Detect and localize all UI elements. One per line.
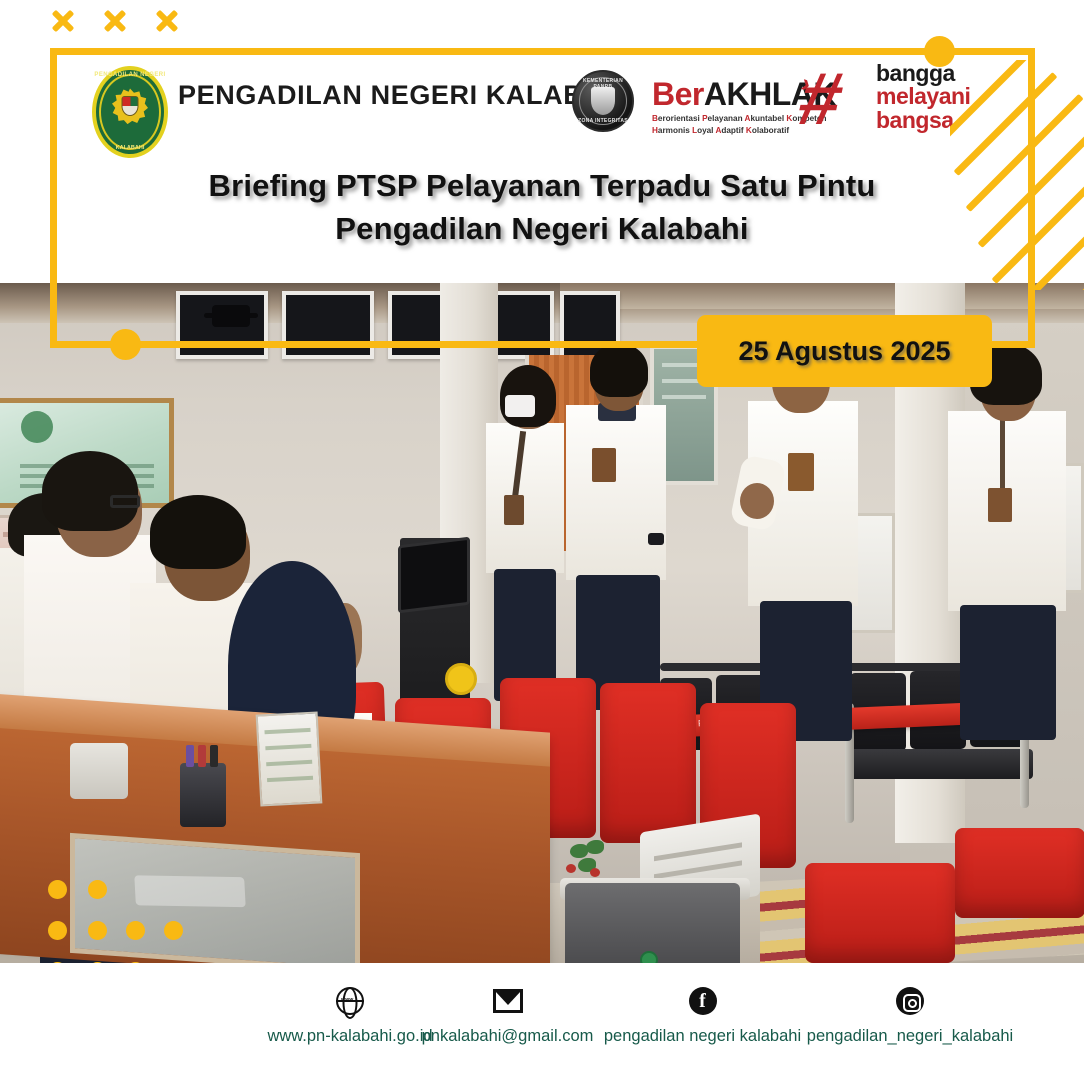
kemenpan-seal-logo: KEMENTERIAN PANRB ZONA INTEGRITAS xyxy=(572,70,634,132)
person-hand xyxy=(740,483,774,519)
red-chair xyxy=(805,863,955,963)
contact-instagram[interactable]: pengadilan_negeri_kalabahi xyxy=(810,985,1010,1046)
gmail-icon xyxy=(492,985,524,1017)
leaflet-stand xyxy=(256,711,323,806)
facebook-label: pengadilan negeri kalabahi xyxy=(604,1027,801,1046)
court-seal-logo: PENGADILAN NEGERI KALABAHI xyxy=(92,66,168,158)
person-standing xyxy=(566,405,666,580)
person-hair xyxy=(150,495,246,569)
desk-box xyxy=(70,743,128,799)
diagonal-stripes-decoration xyxy=(950,60,1084,290)
berakhlak-prefix: Ber xyxy=(652,76,704,112)
red-chair xyxy=(955,828,1084,918)
instagram-icon xyxy=(894,985,926,1017)
contact-facebook[interactable]: f pengadilan negeri kalabahi xyxy=(605,985,800,1046)
ceiling-fan xyxy=(212,305,250,327)
seal-ring-bottom-text: KALABAHI xyxy=(92,145,168,151)
website-label: www.pn-kalabahi.go.id xyxy=(267,1027,432,1046)
eyeglasses xyxy=(110,495,140,508)
seal-ring-top-text: PENGADILAN NEGERI xyxy=(92,72,168,78)
date-badge-label: 25 Agustus 2025 xyxy=(738,336,950,367)
date-badge: 25 Agustus 2025 xyxy=(697,315,992,387)
red-chair xyxy=(600,683,696,843)
person-trousers xyxy=(960,605,1056,740)
kemenpan-shield-icon xyxy=(591,87,615,115)
contact-website[interactable]: www www.pn-kalabahi.go.id xyxy=(290,985,410,1046)
kiosk-screen xyxy=(398,537,470,614)
face-mask xyxy=(505,395,535,417)
title-line-1: Briefing PTSP Pelayanan Terpadu Satu Pin… xyxy=(0,165,1084,208)
wristwatch xyxy=(648,533,664,545)
x-marks-decoration xyxy=(50,8,180,34)
x-icon xyxy=(154,8,180,34)
seal-shield xyxy=(122,96,139,116)
id-card xyxy=(592,448,616,482)
poster-canvas: Pelayanan Terpadu Satu Pintu xyxy=(0,0,1084,1086)
instagram-label: pengadilan_negeri_kalabahi xyxy=(807,1027,1013,1046)
person-hair xyxy=(590,343,648,397)
poster-footer: www www.pn-kalabahi.go.id pnkalabahi@gma… xyxy=(0,963,1084,1086)
x-icon xyxy=(50,8,76,34)
id-card xyxy=(788,453,814,491)
poster-header: PENGADILAN NEGERI KALABAHI PENGADILAN NE… xyxy=(0,0,1084,283)
kemenpan-ring-bottom-text: ZONA INTEGRITAS xyxy=(574,118,632,124)
clerestory-window xyxy=(494,291,554,359)
pen-holder xyxy=(180,763,226,827)
id-card xyxy=(504,495,524,525)
person-hair xyxy=(42,451,138,531)
kiosk-emblem xyxy=(445,663,477,695)
globe-icon: www xyxy=(334,985,366,1017)
page-title: Briefing PTSP Pelayanan Terpadu Satu Pin… xyxy=(0,165,1084,251)
lanyard xyxy=(1000,415,1005,493)
organization-name: PENGADILAN NEGERI KALABAHI xyxy=(178,80,632,111)
scanner-power-button xyxy=(640,951,658,963)
email-label: pnkalabahi@gmail.com xyxy=(422,1027,594,1046)
facebook-icon: f xyxy=(687,985,719,1017)
title-line-2: Pengadilan Negeri Kalabahi xyxy=(0,208,1084,251)
contact-email[interactable]: pnkalabahi@gmail.com xyxy=(420,985,595,1046)
waiting-bench-base xyxy=(845,749,1033,779)
contact-list: www www.pn-kalabahi.go.id pnkalabahi@gma… xyxy=(290,985,1030,1065)
id-card xyxy=(988,488,1012,522)
hashtag-icon: # xyxy=(793,70,878,132)
x-icon xyxy=(102,8,128,34)
clerestory-window xyxy=(282,291,374,359)
person-standing xyxy=(486,423,564,573)
